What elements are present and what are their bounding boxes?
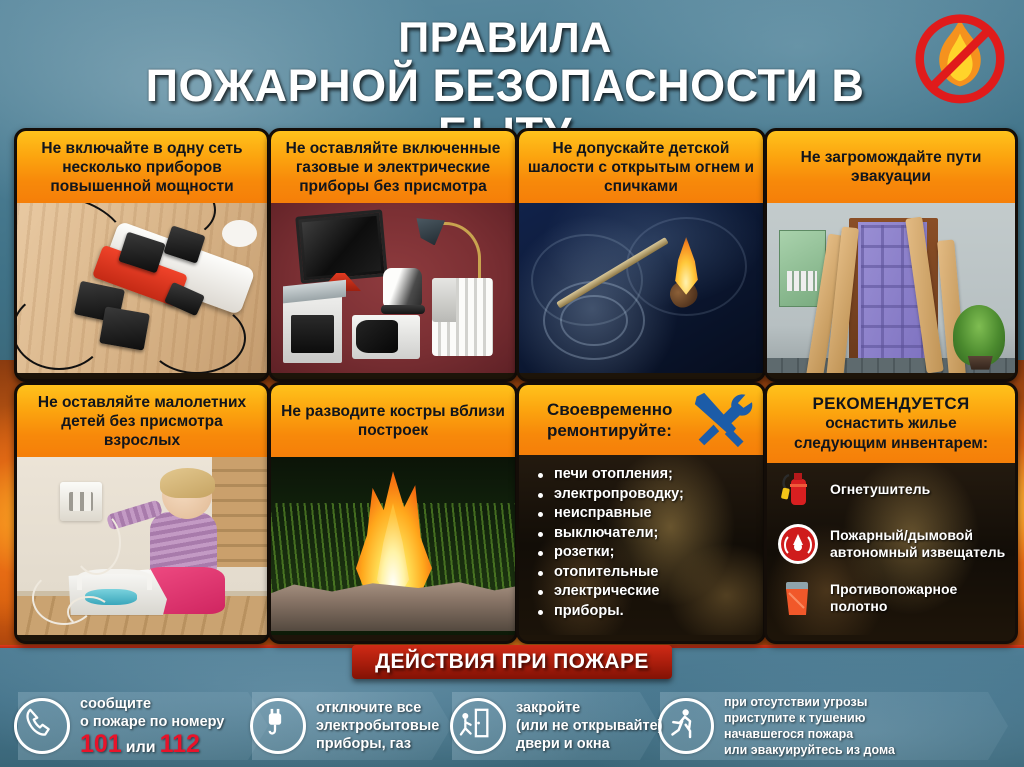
card-unattended-heading: Не оставляйте включенные газовые и элект… [271,131,515,203]
card-bonfire-heading: Не разводите костры вблизи построек [271,385,515,457]
emergency-number-101: 101 [80,730,122,758]
inventory-item-label: Огнетушитель [830,481,930,499]
inventory-item-label: Противопожарное полотно [830,581,1009,616]
fire-extinguisher-icon [775,467,821,513]
repair-item: неисправные [535,504,755,524]
repair-list-panel: печи отопления; электропроводку; неиспра… [519,455,763,635]
card-bonfire[interactable]: Не разводите костры вблизи построек [268,382,518,644]
card-recommended-inventory[interactable]: РЕКОМЕНДУЕТСЯ оснастить жилье следующим … [764,382,1018,644]
close-line-1: закройте [516,699,663,717]
unplug-line-3: приборы, газ [316,735,439,753]
title-line-1: ПРАВИЛА [110,14,900,62]
exit-door-icon [450,698,506,754]
poster-header: ПРАВИЛА ПОЖАРНОЙ БЕЗОПАСНОСТИ В БЫТУ [0,0,1024,122]
extinguish-line-4: или эвакуируйтесь из дома [724,742,895,758]
inventory-list-panel: Огнетушитель Пожарный/дымовой автономный… [767,463,1015,635]
plug-icon [250,698,306,754]
overloaded-power-strip-photo [17,203,267,373]
campfire-photo [271,457,515,635]
inventory-item-label: Пожарный/дымовой автономный извещатель [830,527,1009,562]
running-man-icon [658,698,714,754]
repair-item: розетки; [535,543,755,563]
footer-item-report[interactable]: сообщите о пожаре по номеру 101 или 112 [14,690,272,762]
inventory-item: Огнетушитель [767,463,1015,517]
repair-item: отопительные [535,563,755,583]
close-line-3: двери и окна [516,735,663,753]
action-banner: ДЕЙСТВИЯ ПРИ ПОЖАРЕ [352,645,672,679]
home-appliances-illustration [271,203,515,373]
fire-blanket-icon [775,575,821,621]
repair-item: электропроводку; [535,485,755,505]
card-evacuation-heading: Не загромождайте пути эвакуации [767,131,1015,203]
footer-report-text: сообщите о пожаре по номеру 101 или 112 [80,695,224,758]
no-fire-icon [906,8,1014,114]
repair-item-cont: выключатели; [535,524,755,544]
footer-item-close-doors[interactable]: закройте (или не открывайте) двери и окн… [450,690,664,762]
unplug-line-2: электробытовые [316,717,439,735]
blocked-door-illustration [767,203,1015,373]
card-unattended-children[interactable]: Не оставляйте малолетних детей без присм… [14,382,270,644]
card-repair-heading: Своевременно ремонтируйте: [519,385,763,455]
repair-heading-line-2: ремонтируйте: [533,420,678,441]
footer-item-unplug[interactable]: отключите все электробытовые приборы, га… [250,690,456,762]
inventory-heading-line-2: оснастить жилье [788,414,994,434]
inventory-item: Противопожарное полотно [767,571,1015,625]
card-unattended-appliances[interactable]: Не оставляйте включенные газовые и элект… [268,128,518,382]
emergency-or: или [126,739,156,756]
burning-match-photo [519,203,763,373]
smoke-detector-icon [775,521,821,567]
report-line-2: о пожаре по номеру [80,713,224,731]
emergency-number-112: 112 [160,730,200,758]
extinguish-line-1: при отсутствии угрозы [724,694,895,710]
repair-list: печи отопления; электропроводку; неиспра… [519,455,763,621]
report-line-1: сообщите [80,695,224,713]
card-timely-repair[interactable]: Своевременно ремонтируйте: печи отоплени… [516,382,766,644]
repair-heading-line-1: Своевременно [533,399,678,420]
footer-item-extinguish[interactable]: при отсутствии угрозы приступите к тушен… [658,690,1012,762]
repair-item-cont: приборы. [535,602,755,622]
phone-icon [14,698,70,754]
unplug-line-1: отключите все [316,699,439,717]
inventory-heading-line-1: РЕКОМЕНДУЕТСЯ [788,394,994,414]
inventory-item: Пожарный/дымовой автономный извещатель [767,517,1015,571]
card-overload[interactable]: Не включайте в одну сеть несколько прибо… [14,128,270,382]
action-banner-label: ДЕЙСТВИЯ ПРИ ПОЖАРЕ [375,650,649,674]
footer-unplug-text: отключите все электробытовые приборы, га… [316,699,439,753]
repair-item-cont: электрические [535,582,755,602]
repair-item: печи отопления; [535,465,755,485]
emergency-numbers: 101 или 112 [80,731,224,758]
wrench-screwdriver-icon [689,391,755,449]
card-inventory-heading: РЕКОМЕНДУЕТСЯ оснастить жилье следующим … [767,385,1015,463]
close-line-2: (или не открывайте) [516,717,663,735]
card-matches-heading: Не допускайте детской шалости с открытым… [519,131,763,203]
extinguish-line-2: приступите к тушению [724,710,895,726]
toddler-with-iron-photo [17,457,267,635]
inventory-heading-line-3: следующим инвентарем: [788,434,994,454]
card-evacuation-routes[interactable]: Не загромождайте пути эвакуации [764,128,1018,382]
footer-close-text: закройте (или не открывайте) двери и окн… [516,699,663,753]
card-matches[interactable]: Не допускайте детской шалости с открытым… [516,128,766,382]
card-overload-heading: Не включайте в одну сеть несколько прибо… [17,131,267,203]
fire-safety-poster: ПРАВИЛА ПОЖАРНОЙ БЕЗОПАСНОСТИ В БЫТУ Не … [0,0,1024,767]
card-children-heading: Не оставляйте малолетних детей без присм… [17,385,267,457]
footer-extinguish-text: при отсутствии угрозы приступите к тушен… [724,694,895,758]
extinguish-line-3: начавшегося пожара [724,726,895,742]
